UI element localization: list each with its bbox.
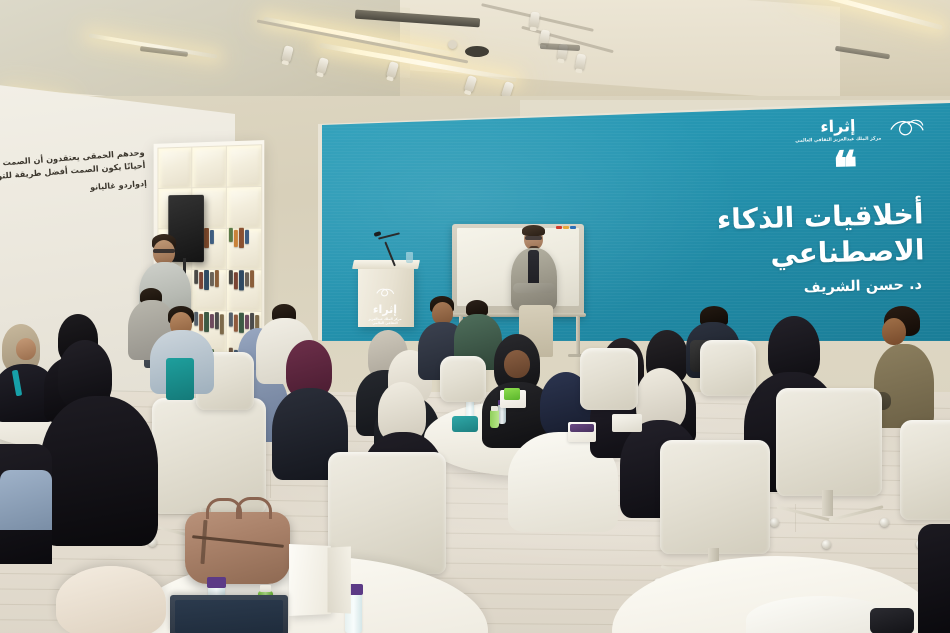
dome-camera-icon [465,46,489,57]
podium-logo-subtitle: مركز الملك عبدالعزيز الثقافي العالمي [367,317,403,325]
ithra-logo: إثراء مركز الملك عبدالعزيز الثقافي العال… [795,115,927,145]
whiteboard-marker [563,226,569,229]
book [194,312,198,326]
book [215,312,219,329]
bookshelf-cell [226,144,262,187]
tent-card [328,546,351,613]
book [245,230,249,244]
book [234,230,238,247]
attendee-head [16,338,36,360]
book [229,312,233,326]
book [245,272,249,286]
book [194,270,198,284]
presenter-crossed-arms [513,283,555,293]
presenter-hair [522,225,545,236]
podium-logo-arabic: إثراء [367,304,403,315]
attendee-head [882,318,906,345]
attendee-abaya [40,396,158,546]
book [204,228,208,248]
paper-sheet [612,414,642,432]
ithra-butterfly-mark-icon [888,115,927,142]
book [239,228,243,248]
laptop-screen [175,600,283,633]
tissue-box-lid [570,424,594,432]
book [215,270,219,287]
book [250,270,254,287]
attendee-hijab [56,566,166,633]
book [199,314,203,331]
whiteboard-marker [570,226,576,229]
book [204,270,208,290]
whiteboard-marker [556,226,562,229]
tent-card [289,544,331,616]
podium-ithra-logo: إثراء مركز الملك عبدالعزيز الثقافي العال… [367,284,403,325]
book [239,313,243,333]
book [234,315,238,332]
teal-notebook [452,416,478,432]
smoke-detector-icon [448,40,457,49]
foreground-attendee-edge [918,524,950,633]
water-glass [406,252,413,263]
book [229,228,233,242]
book [199,272,203,289]
book [204,312,208,332]
tote-bag [166,358,194,400]
presenter-glasses-icon [525,236,542,240]
bookshelf-cell [191,145,227,188]
book [210,230,214,244]
book [220,314,224,334]
podium-butterfly-mark-icon [375,286,395,299]
workshop-room-photo: إثراء مركز الملك عبدالعزيز الثقافي العال… [0,0,950,633]
book [210,314,214,328]
book [229,270,233,284]
book [234,272,238,289]
bookshelf-cell [157,147,192,189]
bag-handle [236,497,272,519]
attendee-olive-sweater [874,344,934,428]
attendee-bag [870,608,914,633]
attendee-head [504,350,530,378]
quote-mark-icon: ❝ [833,155,859,183]
green-card [504,388,520,400]
attendee-denim [0,470,52,530]
slide-title: أخلاقيات الذكاء الاصطناعي [593,196,925,277]
bookshelf-cell [226,186,262,229]
ithra-logo-arabic: إثراء [795,118,882,136]
book [210,272,214,286]
whiteboard-leg [576,316,580,356]
book [239,270,243,290]
projection-screen: إثراء مركز الملك عبدالعزيز الثقافي العال… [322,103,950,341]
facilitator-glasses-icon [153,249,175,253]
book [245,315,249,329]
